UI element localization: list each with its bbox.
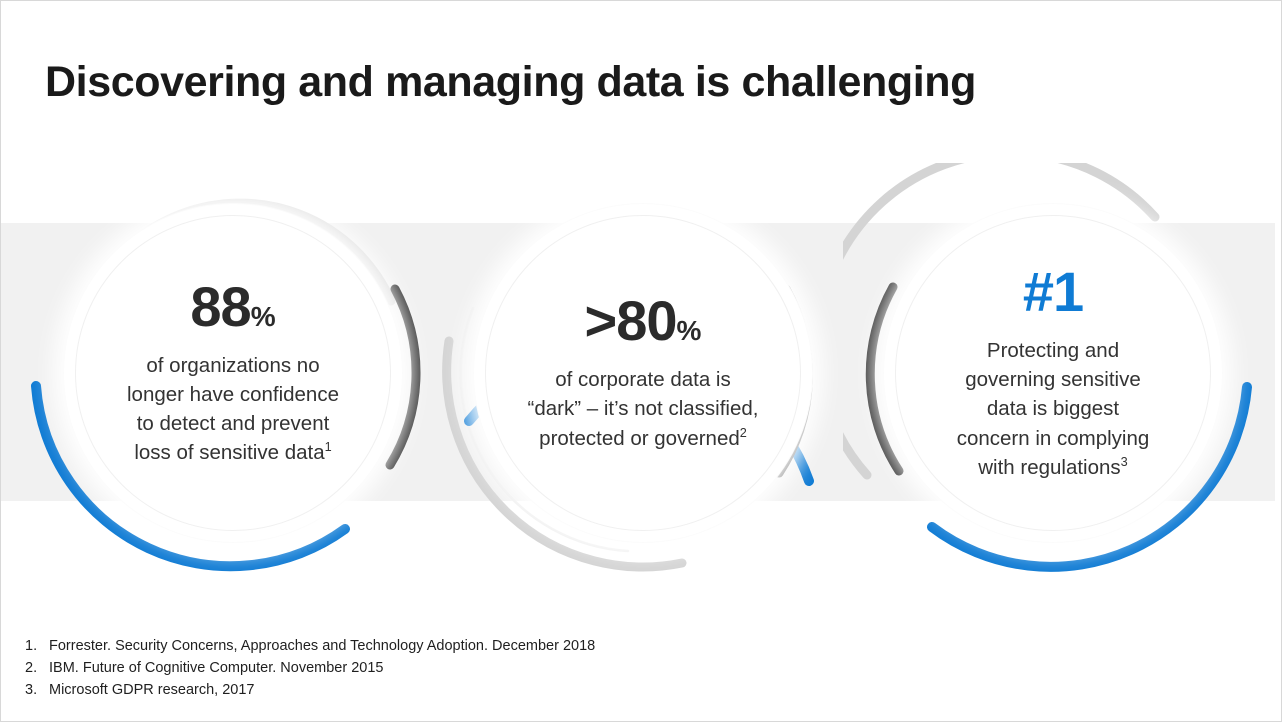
stat-description-1: of organizations no longer have confiden… <box>127 351 339 467</box>
stat-content-2: >80% of corporate data is “dark” – it’s … <box>481 211 805 535</box>
stat-value-1: 88% <box>190 279 275 335</box>
stat-value-3: #1 <box>1023 264 1083 320</box>
stat-number-1: 88 <box>190 275 250 338</box>
stat-circle-3: #1 Protecting and governing sensitive da… <box>843 163 1263 583</box>
stat-content-1: 88% of organizations no longer have conf… <box>71 211 395 535</box>
stat-description-2: of corporate data is “dark” – it’s not c… <box>528 365 759 452</box>
footnote-number: 1. <box>25 635 49 657</box>
footnote-text: Microsoft GDPR research, 2017 <box>49 679 255 701</box>
footnote-item: 1. Forrester. Security Concerns, Approac… <box>25 635 595 657</box>
stat-number-2: >80 <box>585 289 677 352</box>
stat-number-3: #1 <box>1023 260 1083 323</box>
footnote-item: 2. IBM. Future of Cognitive Computer. No… <box>25 657 595 679</box>
stat-footnote-marker-3: 3 <box>1121 454 1128 469</box>
slide-canvas: Discovering and managing data is challen… <box>0 0 1282 722</box>
footnote-text: Forrester. Security Concerns, Approaches… <box>49 635 595 657</box>
footnote-number: 3. <box>25 679 49 701</box>
stat-description-3: Protecting and governing sensitive data … <box>957 336 1150 482</box>
page-title: Discovering and managing data is challen… <box>45 58 976 107</box>
footnote-list: 1. Forrester. Security Concerns, Approac… <box>25 635 595 701</box>
stat-suffix-2: % <box>677 315 702 346</box>
stat-description-text-2: of corporate data is “dark” – it’s not c… <box>528 368 759 449</box>
footnote-item: 3. Microsoft GDPR research, 2017 <box>25 679 595 701</box>
stat-footnote-marker-2: 2 <box>740 425 747 440</box>
stat-content-3: #1 Protecting and governing sensitive da… <box>891 211 1215 535</box>
footnote-number: 2. <box>25 657 49 679</box>
stat-value-2: >80% <box>585 293 702 349</box>
stat-description-text-1: of organizations no longer have confiden… <box>127 354 339 464</box>
stat-suffix-1: % <box>251 301 276 332</box>
stat-footnote-marker-1: 1 <box>325 439 332 454</box>
stat-circle-1: 88% of organizations no longer have conf… <box>23 163 443 583</box>
footnote-text: IBM. Future of Cognitive Computer. Novem… <box>49 657 383 679</box>
stat-circle-2: >80% of corporate data is “dark” – it’s … <box>433 163 853 583</box>
